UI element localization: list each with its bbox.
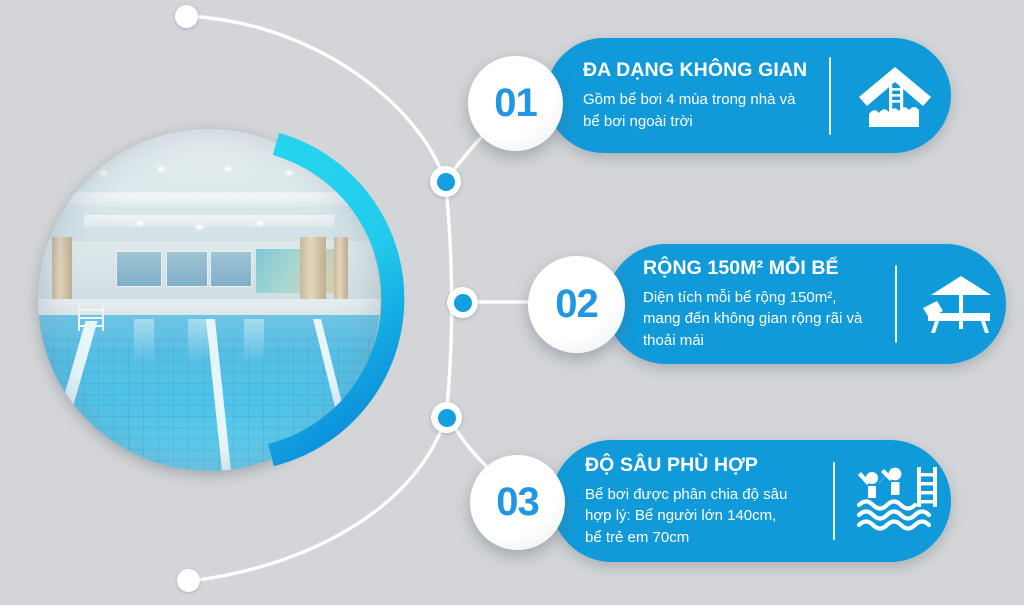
feature-desc-2-line-2: mang đến không gian rộng rãi và — [643, 310, 862, 327]
pool-photo — [38, 129, 380, 471]
junction-node-2 — [447, 287, 478, 318]
junction-node-3 — [431, 402, 462, 433]
feature-desc-1-line-2: bể bơi ngoài trời — [583, 113, 693, 130]
junction-node-1 — [430, 166, 461, 197]
feature-number-badge-2: 02 — [528, 256, 625, 353]
feature-card-1[interactable]: ĐA DẠNG KHÔNG GIAN Gồm bể bơi 4 mùa tron… — [546, 38, 951, 153]
feature-title-1: ĐA DẠNG KHÔNG GIAN — [583, 59, 823, 82]
feature-desc-2-line-3: thoải mái — [643, 332, 704, 349]
feature-number-2: 02 — [555, 282, 598, 327]
feature-desc-2-line-1: Diện tích mỗi bể rộng 150m², — [643, 289, 836, 306]
feature-number-badge-3: 03 — [470, 455, 565, 550]
feature-desc-1-line-1: Gồm bể bơi 4 mùa trong nhà và — [583, 91, 795, 108]
feature-desc-2: Diện tích mỗi bể rộng 150m², mang đến kh… — [643, 287, 891, 351]
photo-accent-arc — [28, 119, 390, 481]
feature-card-3[interactable]: ĐỘ SÂU PHÙ HỢP Bể bơi được phân chia độ … — [551, 440, 951, 562]
beach-umbrella-lounger-icon — [917, 265, 1001, 343]
infographic-stage: ĐA DẠNG KHÔNG GIAN Gồm bể bơi 4 mùa tron… — [0, 0, 1024, 605]
feature-title-3: ĐỘ SÂU PHÙ HỢP — [585, 454, 827, 477]
line-end-dot — [177, 569, 200, 592]
feature-title-2: RỘNG 150M² MỖI BỂ — [643, 257, 891, 280]
feature-number-badge-1: 01 — [468, 56, 563, 151]
swimmers-pool-ladder-icon — [855, 461, 943, 541]
feature-desc-1: Gồm bể bơi 4 mùa trong nhà và bể bơi ngo… — [583, 89, 823, 132]
feature-number-1: 01 — [494, 81, 537, 126]
feature-desc-3-line-2: hợp lý: Bể người lớn 140cm, — [585, 507, 776, 524]
feature-desc-3-line-3: bể trẻ em 70cm — [585, 529, 689, 546]
feature-number-3: 03 — [496, 480, 539, 525]
feature-desc-3-line-1: Bể bơi được phân chia độ sâu — [585, 486, 787, 503]
feature-card-2[interactable]: RỘNG 150M² MỖI BỂ Diện tích mỗi bể rộng … — [606, 244, 1006, 364]
card-divider-1 — [829, 57, 831, 135]
line-start-dot — [175, 5, 198, 28]
card-divider-2 — [895, 265, 897, 343]
feature-desc-3: Bể bơi được phân chia độ sâu hợp lý: Bể … — [585, 484, 827, 548]
indoor-pool-house-icon — [853, 57, 937, 135]
card-divider-3 — [833, 462, 835, 540]
